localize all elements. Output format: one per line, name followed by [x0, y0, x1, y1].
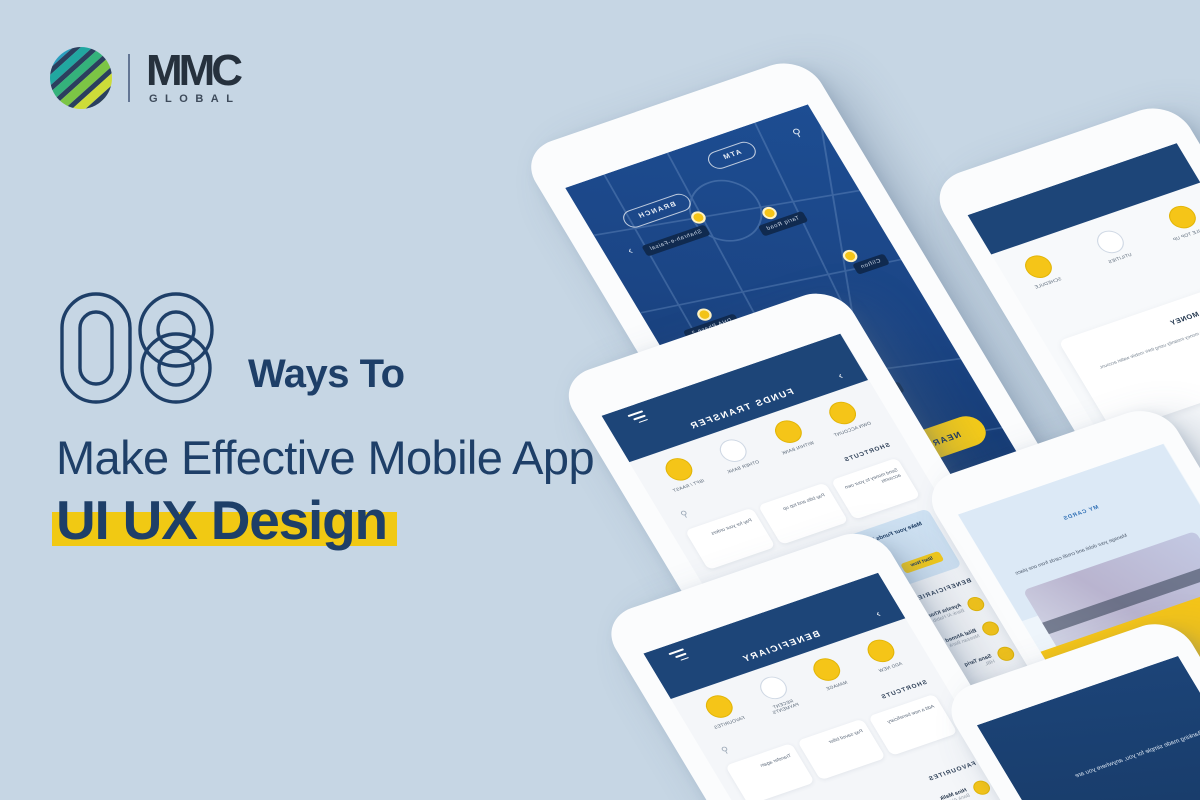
- avatar: [995, 645, 1018, 663]
- shortcut-card[interactable]: Transfer again: [725, 743, 814, 800]
- request-card-title: REQUEST MONEY: [1168, 298, 1200, 328]
- quick-action[interactable]: IBFT / RAAST: [650, 451, 714, 496]
- quick-action[interactable]: FAVOURITES: [690, 688, 756, 738]
- favourites-icon: [701, 692, 737, 721]
- own-account-icon: [825, 398, 861, 427]
- quick-action[interactable]: SCHEDULE: [1011, 249, 1069, 292]
- quick-action[interactable]: WITHIN BANK: [759, 413, 823, 458]
- recent-payments-icon: [755, 673, 791, 702]
- hamburger-icon[interactable]: [669, 648, 691, 665]
- shortcut-card[interactable]: Pay bills and top up: [758, 482, 849, 545]
- schedule-icon: [1020, 252, 1056, 281]
- other-bank-icon: [715, 436, 751, 465]
- shortcut-card[interactable]: Add a new beneficiary: [868, 694, 957, 756]
- quick-action[interactable]: UTILITIES: [1083, 224, 1141, 267]
- avatar: [980, 620, 1003, 638]
- dark-nav-screen: Banking made simple for you, anywhere yo…: [977, 656, 1200, 800]
- search-icon[interactable]: ⚲: [679, 509, 691, 521]
- promo-button[interactable]: Start Now: [901, 551, 945, 574]
- headline-line-3: UI UX Design: [56, 489, 387, 551]
- quick-action[interactable]: RECENT PAYMENTS: [744, 669, 810, 719]
- quick-action[interactable]: MOBILE TOP UP: [1155, 200, 1200, 243]
- quick-action[interactable]: MANAGE: [798, 651, 864, 701]
- shortcut-card[interactable]: Pay saved biller: [797, 719, 886, 781]
- request-money-card: REQUEST MONEY Ask anyone to send you mon…: [1058, 278, 1200, 433]
- ibft-raast-icon: [661, 455, 697, 484]
- phone-mockup-group: ⚲ ATM BRANCH › Shahrah-e-Faisal Tariq Ro…: [0, 0, 1200, 800]
- shortcut-card[interactable]: Send money to your own accounts: [831, 457, 922, 520]
- add-new-icon: [862, 636, 898, 665]
- manage-icon: [809, 655, 845, 684]
- within-bank-icon: [770, 417, 806, 446]
- search-icon[interactable]: ⚲: [719, 745, 731, 757]
- poster-canvas: MMC GLOBAL Ways To Make Effective Mobile…: [0, 0, 1200, 800]
- avatar: [965, 594, 988, 612]
- dark-background: [977, 656, 1200, 800]
- quick-action[interactable]: ADD NEW: [851, 632, 917, 682]
- favourites-title: FAVOURITES: [927, 761, 977, 783]
- quick-action[interactable]: OWN ACCOUNT: [813, 394, 877, 439]
- utilities-icon: [1092, 227, 1128, 256]
- quick-action[interactable]: OTHER BANK: [704, 432, 768, 477]
- hamburger-icon[interactable]: [628, 411, 650, 428]
- shortcut-card[interactable]: Pay for your orders: [685, 507, 776, 570]
- headline-line-3-wrap: UI UX Design: [56, 489, 387, 553]
- mobile-topup-icon: [1164, 203, 1200, 232]
